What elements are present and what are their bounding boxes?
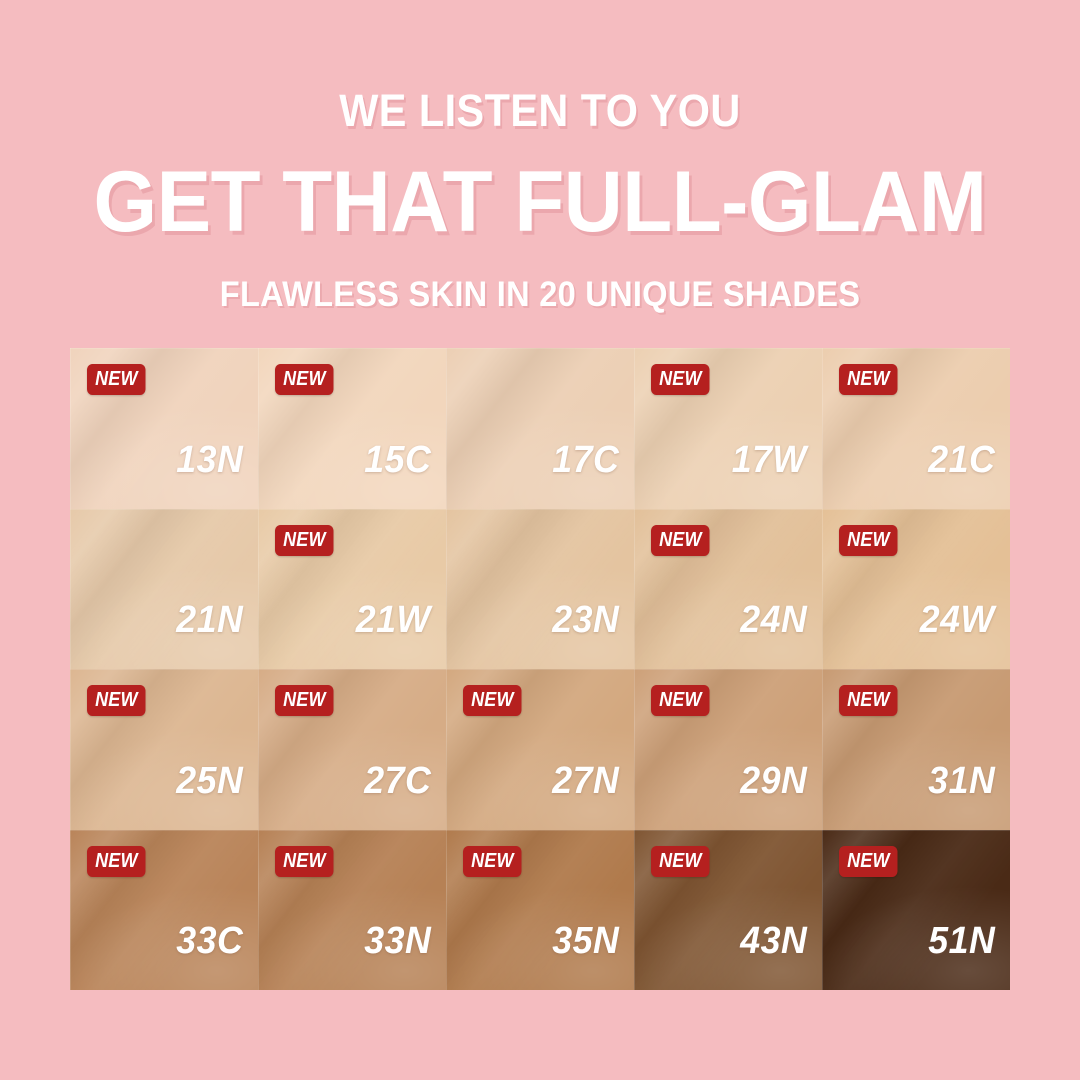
shade-swatch[interactable]: NEW25N [70, 669, 258, 830]
shade-swatch[interactable]: NEW33N [258, 830, 446, 991]
shade-swatch[interactable]: NEW23N [446, 509, 634, 670]
shade-swatch[interactable]: NEW51N [822, 830, 1010, 991]
new-badge: NEW [839, 685, 898, 716]
new-badge: NEW [463, 685, 522, 716]
shade-swatch[interactable]: NEW21C [822, 348, 1010, 509]
shade-code-label: 31N [928, 762, 995, 800]
shade-code-label: 13N [176, 441, 243, 479]
shade-code-label: 25N [176, 762, 243, 800]
shade-code-label: 21W [356, 601, 431, 639]
shade-swatch[interactable]: NEW27N [446, 669, 634, 830]
new-badge: NEW [275, 364, 334, 395]
shade-swatch[interactable]: NEW24W [822, 509, 1010, 670]
shade-code-label: 17C [552, 441, 619, 479]
shade-code-label: 24W [920, 601, 995, 639]
shade-swatch[interactable]: NEW43N [634, 830, 822, 991]
new-badge: NEW [839, 364, 898, 395]
shade-swatch[interactable]: NEW17W [634, 348, 822, 509]
shade-code-label: 17W [732, 441, 807, 479]
shade-swatch[interactable]: NEW21N [70, 509, 258, 670]
new-badge: NEW [275, 685, 334, 716]
shade-code-label: 33N [364, 922, 431, 960]
shade-swatch-grid: NEW13NNEW15CNEW17CNEW17WNEW21CNEW21NNEW2… [70, 348, 1010, 990]
shade-swatch[interactable]: NEW13N [70, 348, 258, 509]
new-badge: NEW [651, 685, 710, 716]
new-badge: NEW [839, 846, 898, 877]
shade-swatch[interactable]: NEW35N [446, 830, 634, 991]
shade-range-poster: WE LISTEN TO YOU GET THAT FULL-GLAM FLAW… [0, 0, 1080, 1080]
shade-code-label: 21N [176, 601, 243, 639]
shade-code-label: 29N [740, 762, 807, 800]
shade-code-label: 24N [740, 601, 807, 639]
new-badge: NEW [87, 846, 146, 877]
page-title: GET THAT FULL-GLAM [27, 157, 1053, 247]
shade-swatch[interactable]: NEW29N [634, 669, 822, 830]
new-badge: NEW [651, 846, 710, 877]
shade-code-label: 35N [552, 922, 619, 960]
shade-code-label: 27C [364, 762, 431, 800]
shade-code-label: 21C [928, 441, 995, 479]
shade-swatch[interactable]: NEW21W [258, 509, 446, 670]
shade-code-label: 15C [364, 441, 431, 479]
new-badge: NEW [839, 525, 898, 556]
new-badge: NEW [87, 364, 146, 395]
shade-swatch[interactable]: NEW33C [70, 830, 258, 991]
shade-code-label: 43N [740, 922, 807, 960]
shade-swatch[interactable]: NEW31N [822, 669, 1010, 830]
shade-code-label: 33C [176, 922, 243, 960]
shade-code-label: 23N [552, 601, 619, 639]
shade-code-label: 51N [928, 922, 995, 960]
headline-block: WE LISTEN TO YOU GET THAT FULL-GLAM FLAW… [0, 88, 1080, 312]
shade-swatch[interactable]: NEW27C [258, 669, 446, 830]
new-badge: NEW [651, 525, 710, 556]
shade-swatch[interactable]: NEW24N [634, 509, 822, 670]
new-badge: NEW [275, 525, 334, 556]
new-badge: NEW [87, 685, 146, 716]
new-badge: NEW [275, 846, 334, 877]
new-badge: NEW [463, 846, 522, 877]
shade-swatch[interactable]: NEW17C [446, 348, 634, 509]
eyebrow-text: WE LISTEN TO YOU [43, 88, 1037, 133]
subtitle-text: FLAWLESS SKIN IN 20 UNIQUE SHADES [38, 277, 1042, 312]
new-badge: NEW [651, 364, 710, 395]
shade-swatch[interactable]: NEW15C [258, 348, 446, 509]
shade-code-label: 27N [552, 762, 619, 800]
